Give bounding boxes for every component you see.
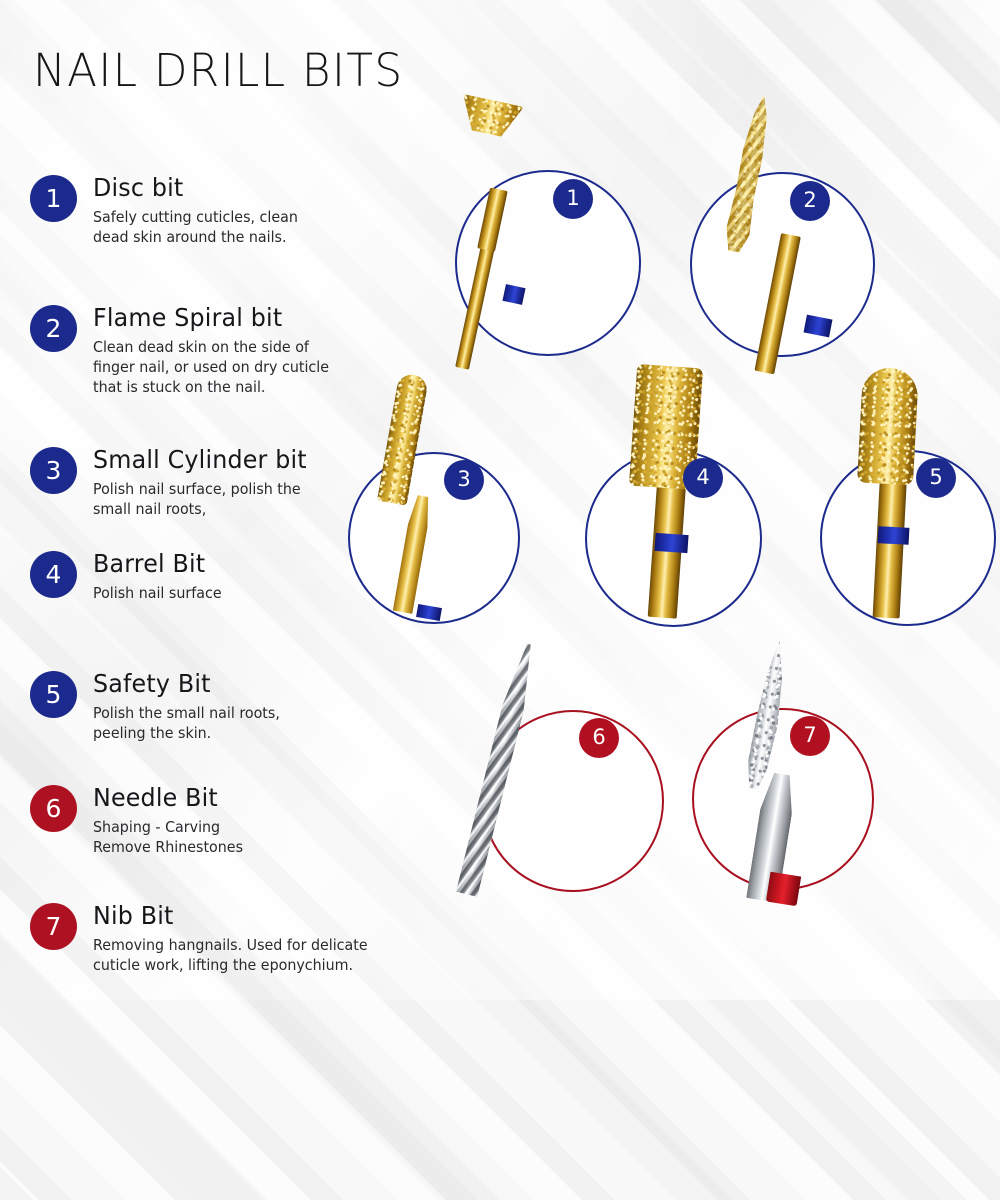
figure-2-number-badge: 2 bbox=[790, 181, 830, 221]
list-item-4-desc-line-1: Polish nail surface bbox=[93, 584, 347, 604]
list-item-2-desc-line-1: Clean dead skin on the side of bbox=[93, 338, 347, 358]
badge-number-5: 5 bbox=[30, 671, 77, 718]
list-item-2-desc-line-3: that is stuck on the nail. bbox=[93, 378, 347, 398]
list-item-7-desc: Removing hangnails. Used for delicate cu… bbox=[93, 936, 347, 976]
list-item-7[interactable]: 7 Nib Bit Removing hangnails. Used for d… bbox=[30, 903, 360, 976]
figure-3-number-badge: 3 bbox=[444, 460, 484, 500]
list-item-6[interactable]: 6 Needle Bit Shaping - Carving Remove Rh… bbox=[30, 785, 360, 858]
bit-7-flame-head bbox=[737, 638, 798, 792]
list-item-5-desc-line-1: Polish the small nail roots, bbox=[93, 704, 347, 724]
bit-3-blue-band bbox=[416, 604, 442, 621]
bit-4-blue-band bbox=[654, 533, 688, 553]
list-item-2-desc: Clean dead skin on the side of finger na… bbox=[93, 338, 347, 398]
figure-1-number-badge: 1 bbox=[553, 179, 593, 219]
badge-number-2: 2 bbox=[30, 305, 77, 352]
list-item-3-desc-line-2: small nail roots, bbox=[93, 500, 347, 520]
list-item-5-desc-line-2: peeling the skin. bbox=[93, 724, 347, 744]
badge-number-7: 7 bbox=[30, 903, 77, 950]
bit-1-shaft bbox=[455, 245, 495, 370]
badge-number-4: 4 bbox=[30, 551, 77, 598]
bit-photo-1-disc bbox=[455, 78, 575, 378]
list-item-1[interactable]: 1 Disc bit Safely cutting cuticles, clea… bbox=[30, 175, 360, 248]
bit-7-red-band bbox=[766, 872, 801, 906]
list-item-2[interactable]: 2 Flame Spiral bit Clean dead skin on th… bbox=[30, 305, 360, 398]
list-item-5-title: Safety Bit bbox=[93, 671, 347, 697]
list-item-7-desc-line-1: Removing hangnails. Used for delicate bbox=[93, 936, 347, 956]
list-item-6-desc: Shaping - Carving Remove Rhinestones bbox=[93, 818, 347, 858]
badge-number-6: 6 bbox=[30, 785, 77, 832]
list-item-1-desc-line-1: Safely cutting cuticles, clean bbox=[93, 208, 347, 228]
list-item-1-title: Disc bit bbox=[93, 175, 347, 201]
list-item-6-body: Needle Bit Shaping - Carving Remove Rhin… bbox=[93, 785, 360, 858]
figure-7-number-badge: 7 bbox=[790, 716, 830, 756]
list-item-2-desc-line-2: finger nail, or used on dry cuticle bbox=[93, 358, 347, 378]
list-item-7-body: Nib Bit Removing hangnails. Used for del… bbox=[93, 903, 360, 976]
bit-1-blue-band bbox=[502, 284, 525, 305]
bit-3-cylinder-head bbox=[377, 372, 429, 505]
list-item-4-desc: Polish nail surface bbox=[93, 584, 347, 604]
bit-1-neck bbox=[477, 187, 507, 251]
list-item-5-body: Safety Bit Polish the small nail roots, … bbox=[93, 671, 360, 744]
bit-photo-3-small-cylinder bbox=[370, 368, 510, 623]
bit-5-rounded-head bbox=[857, 367, 919, 486]
bit-photo-6-needle bbox=[490, 636, 630, 901]
list-item-3-body: Small Cylinder bit Polish nail surface, … bbox=[93, 447, 360, 520]
list-item-3-desc-line-1: Polish nail surface, polish the bbox=[93, 480, 347, 500]
list-item-4-body: Barrel Bit Polish nail surface bbox=[93, 551, 360, 604]
list-item-1-desc: Safely cutting cuticles, clean dead skin… bbox=[93, 208, 347, 248]
figure-6-number-badge: 6 bbox=[579, 718, 619, 758]
list-item-1-body: Disc bit Safely cutting cuticles, clean … bbox=[93, 175, 360, 248]
list-item-7-title: Nib Bit bbox=[93, 903, 347, 929]
bit-2-blue-band bbox=[804, 315, 833, 338]
list-item-5-desc: Polish the small nail roots, peeling the… bbox=[93, 704, 347, 744]
bit-5-shaft bbox=[873, 475, 907, 618]
bit-3-shaft bbox=[390, 494, 436, 615]
bit-1-disc-head bbox=[456, 94, 524, 140]
bit-photo-2-flame-spiral bbox=[700, 85, 850, 360]
list-item-2-title: Flame Spiral bit bbox=[93, 305, 347, 331]
list-item-6-desc-line-1: Shaping - Carving bbox=[93, 818, 347, 838]
figure-5-number-badge: 5 bbox=[916, 458, 956, 498]
list-item-2-body: Flame Spiral bit Clean dead skin on the … bbox=[93, 305, 360, 398]
bit-2-spiral-flutes bbox=[717, 91, 781, 255]
page-title: NAIL DRILL BITS bbox=[33, 44, 404, 97]
list-item-7-desc-line-2: cuticle work, lifting the eponychium. bbox=[93, 956, 347, 976]
list-item-6-title: Needle Bit bbox=[93, 785, 347, 811]
list-item-3-desc: Polish nail surface, polish the small na… bbox=[93, 480, 347, 520]
list-item-4[interactable]: 4 Barrel Bit Polish nail surface bbox=[30, 551, 360, 604]
bit-6-spiral-flutes bbox=[456, 641, 540, 897]
list-item-3-title: Small Cylinder bit bbox=[93, 447, 347, 473]
list-item-3[interactable]: 3 Small Cylinder bit Polish nail surface… bbox=[30, 447, 360, 520]
list-item-4-title: Barrel Bit bbox=[93, 551, 347, 577]
figure-4-number-badge: 4 bbox=[683, 458, 723, 498]
bit-5-blue-band bbox=[878, 526, 910, 545]
badge-number-3: 3 bbox=[30, 447, 77, 494]
list-item-5[interactable]: 5 Safety Bit Polish the small nail roots… bbox=[30, 671, 360, 744]
badge-number-1: 1 bbox=[30, 175, 77, 222]
list-item-6-desc-line-2: Remove Rhinestones bbox=[93, 838, 347, 858]
list-item-1-desc-line-2: dead skin around the nails. bbox=[93, 228, 347, 248]
bit-2-shaft bbox=[754, 233, 800, 374]
bit-photo-7-nib bbox=[700, 636, 850, 904]
bit-photo-4-barrel bbox=[595, 362, 745, 622]
infographic-content: NAIL DRILL BITS 1 Disc bit Safely cuttin… bbox=[0, 0, 1000, 1000]
